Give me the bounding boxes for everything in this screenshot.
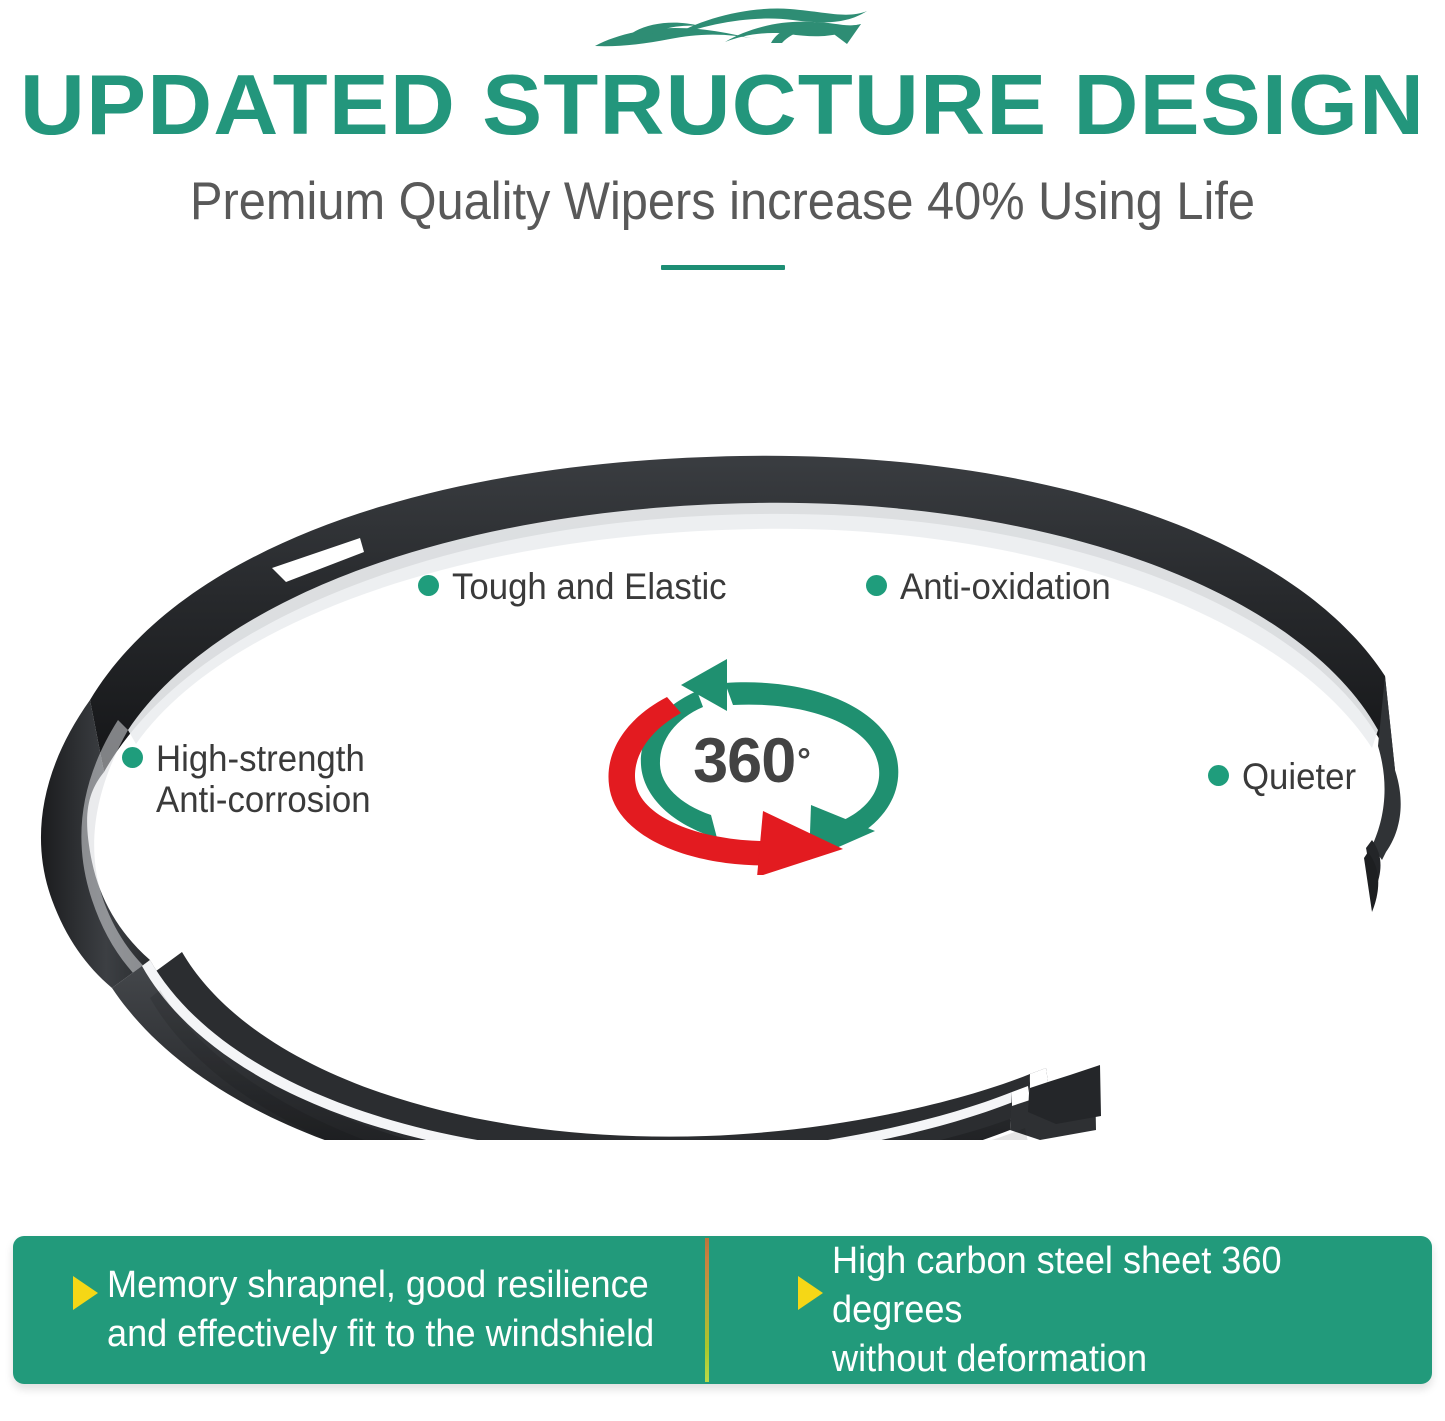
- bullet-dot-icon: [418, 575, 439, 596]
- feature-high-strength-anti-corrosion: High-strength Anti-corrosion: [122, 738, 384, 820]
- bullet-dot-icon: [866, 575, 887, 596]
- title-divider: [661, 265, 785, 270]
- triangle-bullet-icon: [73, 1276, 98, 1310]
- feature-label: Quieter: [1242, 756, 1356, 797]
- banner-text: High carbon steel sheet 360 degrees with…: [832, 1237, 1402, 1384]
- feature-quieter: Quieter: [1208, 756, 1363, 797]
- feature-banner: Memory shrapnel, good resilience and eff…: [13, 1236, 1432, 1384]
- banner-item-right: High carbon steel sheet 360 degrees with…: [723, 1236, 1433, 1384]
- feature-label: High-strength Anti-corrosion: [156, 738, 371, 820]
- page-title: UPDATED STRUCTURE DESIGN: [0, 62, 1445, 150]
- product-infographic: UPDATED STRUCTURE DESIGN Premium Quality…: [0, 0, 1445, 1421]
- feature-label: Tough and Elastic: [452, 566, 727, 607]
- car-silhouette-icon: [575, 2, 875, 58]
- page-subtitle: Premium Quality Wipers increase 40% Usin…: [58, 173, 1387, 231]
- banner-divider: [705, 1238, 709, 1382]
- rotation-360-badge: 360°: [575, 655, 920, 875]
- bullet-dot-icon: [1208, 765, 1229, 786]
- feature-anti-oxidation: Anti-oxidation: [866, 566, 1124, 607]
- bullet-dot-icon: [122, 747, 143, 768]
- feature-label: Anti-oxidation: [900, 566, 1111, 607]
- banner-item-left: Memory shrapnel, good resilience and eff…: [13, 1236, 723, 1384]
- badge-number: 360: [693, 725, 795, 797]
- banner-text: Memory shrapnel, good resilience and eff…: [107, 1261, 654, 1359]
- triangle-bullet-icon: [798, 1276, 823, 1310]
- badge-value: 360°: [575, 655, 920, 875]
- feature-tough-and-elastic: Tough and Elastic: [418, 566, 744, 607]
